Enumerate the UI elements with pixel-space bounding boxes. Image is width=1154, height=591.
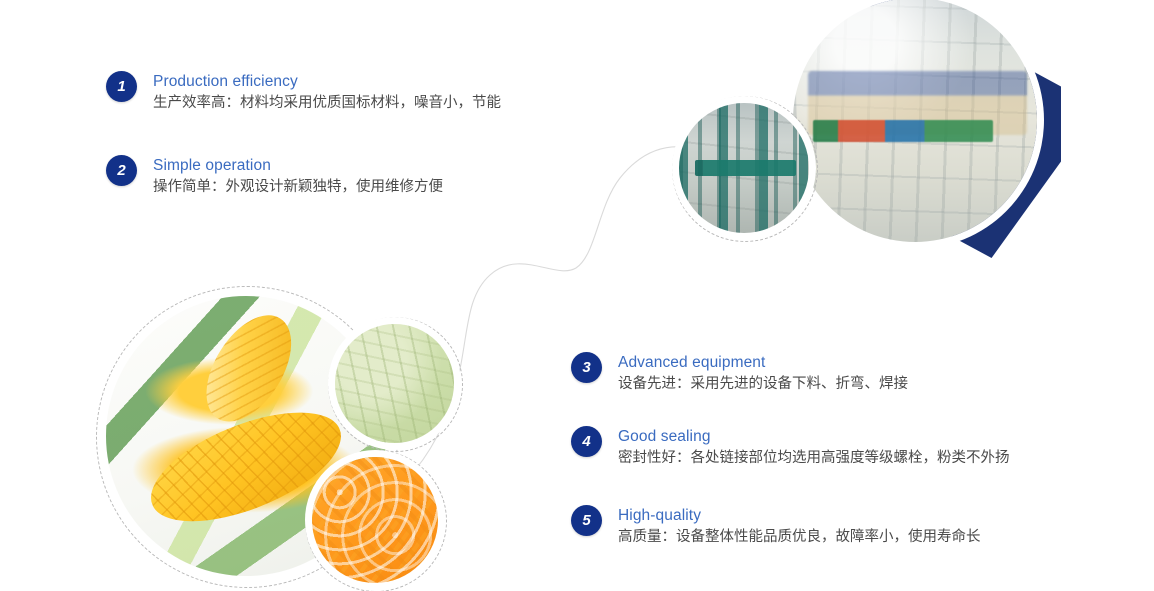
feature-title: Good sealing bbox=[618, 427, 1010, 446]
feature-description: 高质量：设备整体性能品质优良，故障率小，使用寿命长 bbox=[618, 527, 981, 548]
feature-title: Production efficiency bbox=[153, 72, 501, 91]
feature-title: Simple operation bbox=[153, 156, 443, 175]
feature-title: Advanced equipment bbox=[618, 353, 908, 372]
photo-milling-plant bbox=[793, 0, 1037, 242]
feature-text-block: Production efficiency 生产效率高：材料均采用优质国标材料，… bbox=[153, 71, 501, 114]
feature-text-block: Advanced equipment 设备先进：采用先进的设备下料、折弯、焊接 bbox=[618, 352, 908, 395]
feature-description: 生产效率高：材料均采用优质国标材料，噪音小，节能 bbox=[153, 93, 501, 114]
photo-corn-paste bbox=[335, 324, 454, 443]
photo-teal-plant bbox=[679, 103, 809, 233]
feature-text-block: Simple operation 操作简单：外观设计新颖独特，使用维修方便 bbox=[153, 155, 443, 198]
feature-text-block: High-quality 高质量：设备整体性能品质优良，故障率小，使用寿命长 bbox=[618, 505, 981, 548]
feature-title: High-quality bbox=[618, 506, 981, 525]
feature-badge-number: 1 bbox=[106, 71, 137, 102]
feature-badge-number: 4 bbox=[571, 426, 602, 457]
feature-badge-number: 3 bbox=[571, 352, 602, 383]
photo-corn-kernels bbox=[312, 457, 438, 583]
feature-description: 操作简单：外观设计新颖独特，使用维修方便 bbox=[153, 177, 443, 198]
feature-item-1[interactable]: 1 Production efficiency 生产效率高：材料均采用优质国标材… bbox=[106, 71, 501, 114]
feature-item-2[interactable]: 2 Simple operation 操作简单：外观设计新颖独特，使用维修方便 bbox=[106, 155, 443, 198]
feature-text-block: Good sealing 密封性好：各处链接部位均选用高强度等级螺栓，粉类不外扬 bbox=[618, 426, 1010, 469]
feature-description: 密封性好：各处链接部位均选用高强度等级螺栓，粉类不外扬 bbox=[618, 448, 1010, 469]
feature-item-5[interactable]: 5 High-quality 高质量：设备整体性能品质优良，故障率小，使用寿命长 bbox=[571, 505, 981, 548]
feature-description: 设备先进：采用先进的设备下料、折弯、焊接 bbox=[618, 374, 908, 395]
feature-badge-number: 2 bbox=[106, 155, 137, 186]
hexagon-photo-group bbox=[648, 0, 1078, 280]
feature-badge-number: 5 bbox=[571, 505, 602, 536]
feature-item-3[interactable]: 3 Advanced equipment 设备先进：采用先进的设备下料、折弯、焊… bbox=[571, 352, 908, 395]
infographic-page: 1 Production efficiency 生产效率高：材料均采用优质国标材… bbox=[0, 0, 1154, 591]
feature-item-4[interactable]: 4 Good sealing 密封性好：各处链接部位均选用高强度等级螺栓，粉类不… bbox=[571, 426, 1010, 469]
corn-photo-group bbox=[96, 286, 456, 591]
